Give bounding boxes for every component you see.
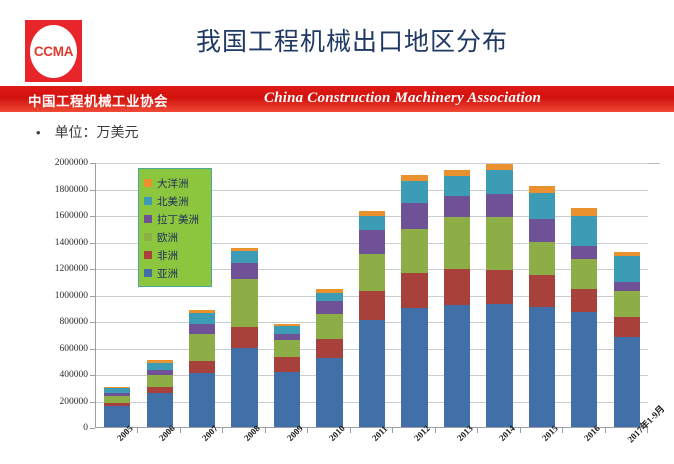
- bar-segment-拉丁美洲[interactable]: [274, 334, 300, 341]
- bar-segment-欧洲[interactable]: [274, 340, 300, 357]
- bar-2005[interactable]: [104, 387, 130, 427]
- bar-2008[interactable]: [231, 248, 257, 428]
- bar-segment-非洲[interactable]: [571, 289, 597, 312]
- bar-segment-欧洲[interactable]: [316, 314, 342, 339]
- y-axis-tick-label: 1000000: [55, 291, 88, 301]
- bar-segment-拉丁美洲[interactable]: [614, 282, 640, 291]
- bar-segment-亚洲[interactable]: [486, 304, 512, 427]
- x-axis-tick-mark: [222, 428, 223, 433]
- y-axis-labels: 0200000400000600000800000100000012000001…: [20, 152, 88, 442]
- bar-2010[interactable]: [316, 289, 342, 427]
- banner-name-cn: 中国工程机械工业协会: [28, 90, 168, 110]
- bar-segment-非洲[interactable]: [359, 291, 385, 319]
- x-axis-tick-mark: [265, 428, 266, 433]
- x-axis-tick-mark: [605, 428, 606, 433]
- bar-segment-北美洲[interactable]: [359, 216, 385, 231]
- bar-2016[interactable]: [571, 208, 597, 427]
- y-axis-tick-mark: [90, 428, 95, 429]
- bar-segment-欧洲[interactable]: [571, 259, 597, 289]
- y-axis-tick-label: 800000: [60, 317, 89, 327]
- legend-label: 亚洲: [157, 266, 178, 281]
- bar-segment-亚洲[interactable]: [529, 307, 555, 427]
- bar-2007[interactable]: [189, 310, 215, 427]
- bar-segment-大洋洲[interactable]: [571, 208, 597, 215]
- legend-label: 北美洲: [157, 194, 189, 209]
- x-axis-tick-mark: [137, 428, 138, 433]
- y-axis-tick-mark: [90, 349, 95, 350]
- bar-segment-欧洲[interactable]: [359, 254, 385, 291]
- bar-segment-欧洲[interactable]: [444, 217, 470, 269]
- y-axis-tick-label: 1800000: [55, 185, 88, 195]
- legend-item-大洋洲[interactable]: 大洋洲: [144, 174, 207, 192]
- y-axis-tick-mark: [90, 216, 95, 217]
- y-axis-tick-label: 600000: [60, 344, 89, 354]
- bar-segment-拉丁美洲[interactable]: [316, 301, 342, 315]
- bar-segment-欧洲[interactable]: [401, 229, 427, 273]
- legend-swatch-icon: [144, 179, 152, 187]
- bar-segment-大洋洲[interactable]: [401, 175, 427, 182]
- bar-segment-非洲[interactable]: [316, 339, 342, 358]
- bar-segment-拉丁美洲[interactable]: [401, 203, 427, 229]
- bar-segment-拉丁美洲[interactable]: [571, 246, 597, 259]
- bar-segment-亚洲[interactable]: [316, 358, 342, 427]
- y-axis-tick-label: 400000: [60, 370, 89, 380]
- bar-segment-亚洲[interactable]: [614, 337, 640, 427]
- bar-segment-北美洲[interactable]: [571, 216, 597, 246]
- bar-segment-北美洲[interactable]: [401, 181, 427, 203]
- y-axis-tick-mark: [90, 375, 95, 376]
- legend-item-拉丁美洲[interactable]: 拉丁美洲: [144, 210, 207, 228]
- slide: CCMA 我国工程机械出口地区分布 中国工程机械工业协会 China Const…: [0, 0, 674, 464]
- bar-2009[interactable]: [274, 324, 300, 427]
- y-axis-tick-mark: [90, 190, 95, 191]
- bar-segment-北美洲[interactable]: [189, 313, 215, 324]
- bar-segment-欧洲[interactable]: [147, 375, 173, 388]
- bar-segment-拉丁美洲[interactable]: [359, 230, 385, 254]
- bar-2006[interactable]: [147, 360, 173, 427]
- bar-segment-拉丁美洲[interactable]: [444, 196, 470, 217]
- bar-segment-非洲[interactable]: [189, 361, 215, 373]
- legend-label: 大洋洲: [157, 176, 189, 191]
- gridline: [96, 163, 648, 164]
- bar-segment-大洋洲[interactable]: [529, 186, 555, 193]
- legend-swatch-icon: [144, 215, 152, 223]
- bar-segment-北美洲[interactable]: [614, 256, 640, 282]
- bar-segment-欧洲[interactable]: [614, 291, 640, 317]
- x-axis-tick-mark: [180, 428, 181, 433]
- bar-segment-拉丁美洲[interactable]: [189, 324, 215, 333]
- bar-segment-北美洲[interactable]: [486, 170, 512, 195]
- bar-segment-非洲[interactable]: [529, 275, 555, 307]
- bar-segment-拉丁美洲[interactable]: [529, 219, 555, 242]
- legend-label: 非洲: [157, 248, 178, 263]
- bar-segment-亚洲[interactable]: [444, 305, 470, 427]
- bar-segment-亚洲[interactable]: [571, 312, 597, 427]
- bar-segment-欧洲[interactable]: [189, 334, 215, 361]
- bar-2014[interactable]: [486, 164, 512, 427]
- legend-item-非洲[interactable]: 非洲: [144, 246, 207, 264]
- x-axis-tick-mark: [477, 428, 478, 433]
- bar-segment-亚洲[interactable]: [189, 373, 215, 427]
- x-axis-tick-mark: [562, 428, 563, 433]
- x-axis-tick-mark: [392, 428, 393, 433]
- bar-2017年1-9月[interactable]: [614, 252, 640, 427]
- bar-segment-亚洲[interactable]: [274, 372, 300, 427]
- legend-label: 欧洲: [157, 230, 178, 245]
- bar-segment-亚洲[interactable]: [231, 348, 257, 428]
- legend-swatch-icon: [144, 251, 152, 259]
- legend-swatch-icon: [144, 197, 152, 205]
- legend-swatch-icon: [144, 233, 152, 241]
- legend-item-亚洲[interactable]: 亚洲: [144, 264, 207, 282]
- x-axis-tick-mark: [520, 428, 521, 433]
- y-axis-tick-mark: [90, 296, 95, 297]
- y-axis-tick-mark: [90, 163, 95, 164]
- bar-segment-欧洲[interactable]: [104, 396, 130, 403]
- page-title: 我国工程机械出口地区分布: [0, 22, 674, 58]
- y-axis-tick-mark: [90, 402, 95, 403]
- bar-segment-北美洲[interactable]: [231, 251, 257, 264]
- association-banner: 中国工程机械工业协会 China Construction Machinery …: [0, 86, 674, 112]
- bar-segment-欧洲[interactable]: [486, 217, 512, 270]
- bar-2011[interactable]: [359, 211, 385, 427]
- bar-segment-北美洲[interactable]: [444, 176, 470, 197]
- bar-segment-北美洲[interactable]: [316, 293, 342, 301]
- bar-2013[interactable]: [444, 170, 470, 427]
- y-axis-tick-label: 0: [83, 423, 88, 433]
- bar-segment-非洲[interactable]: [614, 317, 640, 337]
- legend-item-北美洲[interactable]: 北美洲: [144, 192, 207, 210]
- bar-segment-非洲[interactable]: [231, 327, 257, 348]
- y-axis-tick-mark: [90, 269, 95, 270]
- bar-segment-非洲[interactable]: [444, 269, 470, 305]
- y-axis-tick-mark: [90, 243, 95, 244]
- bar-segment-亚洲[interactable]: [359, 320, 385, 427]
- bar-segment-欧洲[interactable]: [231, 279, 257, 327]
- unit-note: • 单位：万美元: [36, 122, 139, 142]
- banner-name-en: China Construction Machinery Association: [264, 90, 541, 107]
- y-axis-tick-label: 1600000: [55, 211, 88, 221]
- chart-legend: 大洋洲北美洲拉丁美洲欧洲非洲亚洲: [138, 168, 212, 287]
- x-axis-tick-mark: [307, 428, 308, 433]
- bar-segment-北美洲[interactable]: [147, 363, 173, 370]
- bar-segment-拉丁美洲[interactable]: [231, 263, 257, 279]
- bar-segment-北美洲[interactable]: [529, 193, 555, 219]
- bullet-marker: •: [36, 126, 41, 139]
- bar-segment-亚洲[interactable]: [147, 393, 173, 427]
- bar-2012[interactable]: [401, 175, 427, 427]
- y-axis-tick-label: 1200000: [55, 264, 88, 274]
- bar-segment-非洲[interactable]: [274, 357, 300, 372]
- bar-segment-欧洲[interactable]: [529, 242, 555, 275]
- y-axis-tick-mark: [90, 322, 95, 323]
- bar-segment-拉丁美洲[interactable]: [486, 194, 512, 217]
- y-axis-tick-label: 2000000: [55, 158, 88, 168]
- bar-segment-非洲[interactable]: [401, 273, 427, 308]
- bar-segment-非洲[interactable]: [486, 270, 512, 304]
- bar-segment-亚洲[interactable]: [401, 308, 427, 427]
- y-axis-tick-label: 200000: [60, 397, 89, 407]
- y-axis-tick-label: 1400000: [55, 238, 88, 248]
- bar-2015[interactable]: [529, 186, 555, 427]
- legend-item-欧洲[interactable]: 欧洲: [144, 228, 207, 246]
- bar-segment-北美洲[interactable]: [274, 326, 300, 333]
- bullet-label: 单位：万美元: [55, 122, 139, 142]
- stacked-bar-chart: 0200000400000600000800000100000012000001…: [20, 152, 664, 452]
- x-axis-tick-mark: [435, 428, 436, 433]
- legend-label: 拉丁美洲: [157, 212, 199, 227]
- legend-swatch-icon: [144, 269, 152, 277]
- x-axis-tick-mark: [350, 428, 351, 433]
